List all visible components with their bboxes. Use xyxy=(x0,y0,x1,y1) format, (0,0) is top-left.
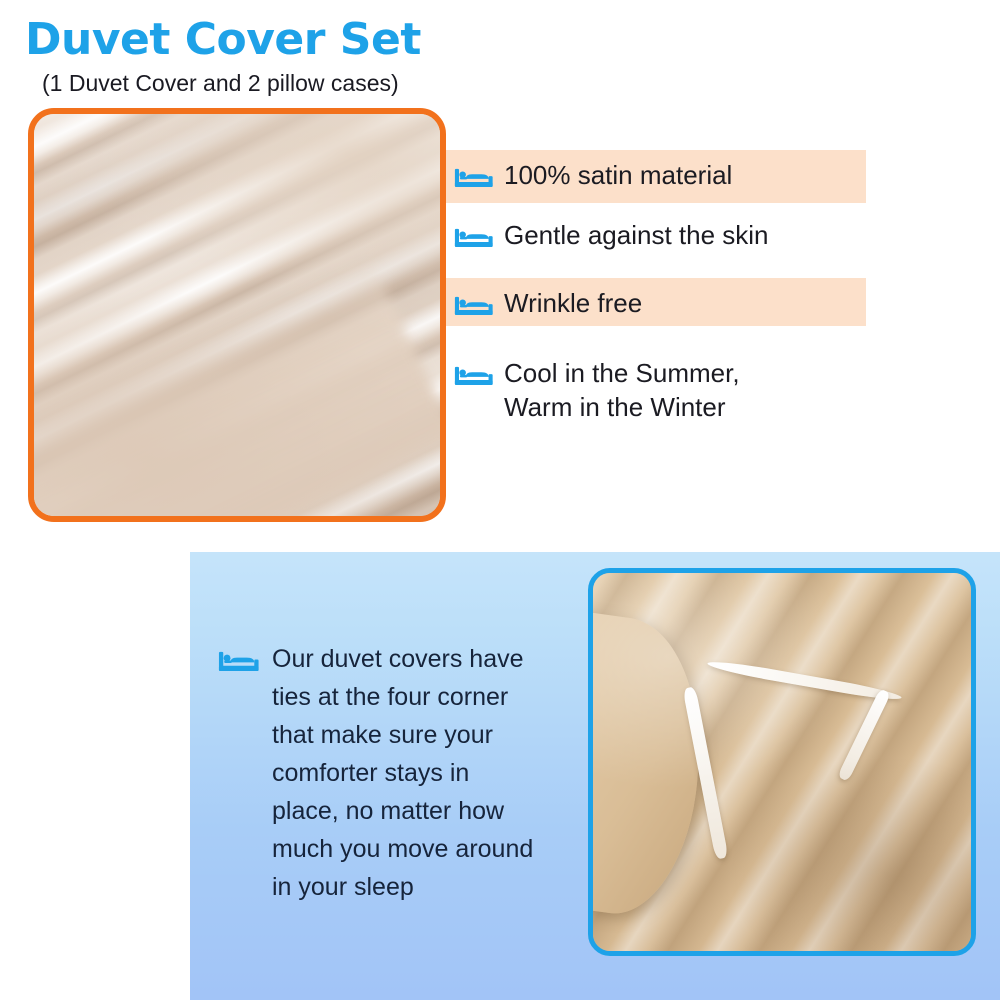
page-subtitle: (1 Duvet Cover and 2 pillow cases) xyxy=(42,70,399,97)
tie-photo-sheen-overlay xyxy=(593,573,971,951)
feature-item-1: 100% satin material xyxy=(446,150,866,203)
feature-label: Gentle against the skin xyxy=(504,218,769,252)
fabric-sheen-overlay xyxy=(34,114,440,516)
bed-person-icon xyxy=(454,224,494,250)
bed-person-icon xyxy=(454,292,494,318)
infographic-canvas: Duvet Cover Set (1 Duvet Cover and 2 pil… xyxy=(0,0,1000,1000)
feature-label: 100% satin material xyxy=(504,158,732,192)
feature-label: Cool in the Summer, Warm in the Winter xyxy=(504,356,740,424)
ties-description-text: Our duvet covers have ties at the four c… xyxy=(272,640,533,906)
satin-fabric-image-card xyxy=(28,108,446,522)
duvet-ties-image-card xyxy=(588,568,976,956)
satin-fabric-photo xyxy=(34,114,440,516)
feature-item-3: Wrinkle free xyxy=(446,278,866,326)
ties-description-block: Our duvet covers have ties at the four c… xyxy=(218,640,578,906)
page-title: Duvet Cover Set xyxy=(25,14,421,65)
feature-label: Wrinkle free xyxy=(504,286,642,320)
feature-list: 100% satin material Gentle against the s… xyxy=(446,150,866,424)
bed-person-icon xyxy=(454,164,494,190)
feature-item-2: Gentle against the skin xyxy=(446,203,866,256)
feature-item-4: Cool in the Summer, Warm in the Winter xyxy=(446,348,866,424)
bed-person-icon xyxy=(218,647,260,674)
ties-description-row: Our duvet covers have ties at the four c… xyxy=(218,640,578,906)
bed-person-icon xyxy=(454,362,494,388)
